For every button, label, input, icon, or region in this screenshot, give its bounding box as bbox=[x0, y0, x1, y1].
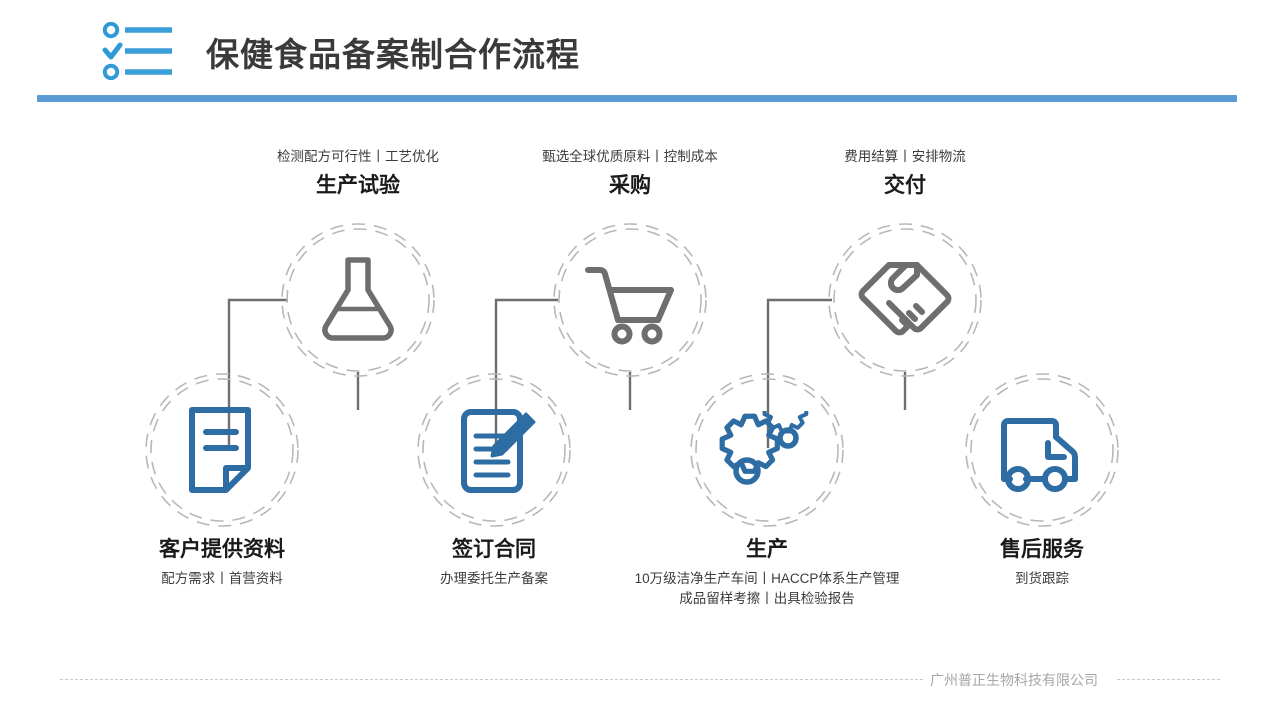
step-subtitle-second-line: 成品留样考擦丨出具检验报告 bbox=[597, 589, 937, 609]
footer-dashed-line-right bbox=[1117, 679, 1220, 680]
footer-company-name: 广州普正生物科技有限公司 bbox=[930, 670, 1098, 690]
checklist-icon bbox=[100, 22, 180, 80]
contract-pen-icon bbox=[419, 378, 569, 528]
shopping-cart-icon bbox=[555, 225, 705, 375]
footer-dashed-line-left bbox=[60, 679, 923, 680]
handshake-icon bbox=[830, 228, 980, 378]
delivery-truck-icon bbox=[967, 382, 1117, 532]
step-subtitle: 到货跟踪 bbox=[872, 569, 1212, 589]
gears-icon bbox=[692, 382, 842, 532]
page-title: 保健食品备案制合作流程 bbox=[206, 28, 580, 76]
step-caption-handshake: 费用结算丨安排物流 交付 bbox=[735, 147, 1075, 197]
slide-root: 保健食品备案制合作流程 bbox=[0, 0, 1280, 720]
document-icon bbox=[147, 378, 297, 528]
step-subtitle: 费用结算丨安排物流 bbox=[735, 147, 1075, 167]
step-title: 售后服务 bbox=[872, 538, 1212, 561]
slide-header: 保健食品备案制合作流程 bbox=[0, 0, 1280, 110]
header-accent-bar bbox=[37, 95, 1237, 102]
flask-icon bbox=[283, 225, 433, 375]
step-caption-truck: 售后服务 到货跟踪 bbox=[872, 538, 1212, 589]
process-flow-diagram: 检测配方可行性丨工艺优化 生产试验 甄选全球优质原料丨控制成本 采购 bbox=[0, 110, 1280, 655]
slide-footer: 广州普正生物科技有限公司 bbox=[0, 668, 1280, 692]
step-title: 交付 bbox=[735, 174, 1075, 197]
